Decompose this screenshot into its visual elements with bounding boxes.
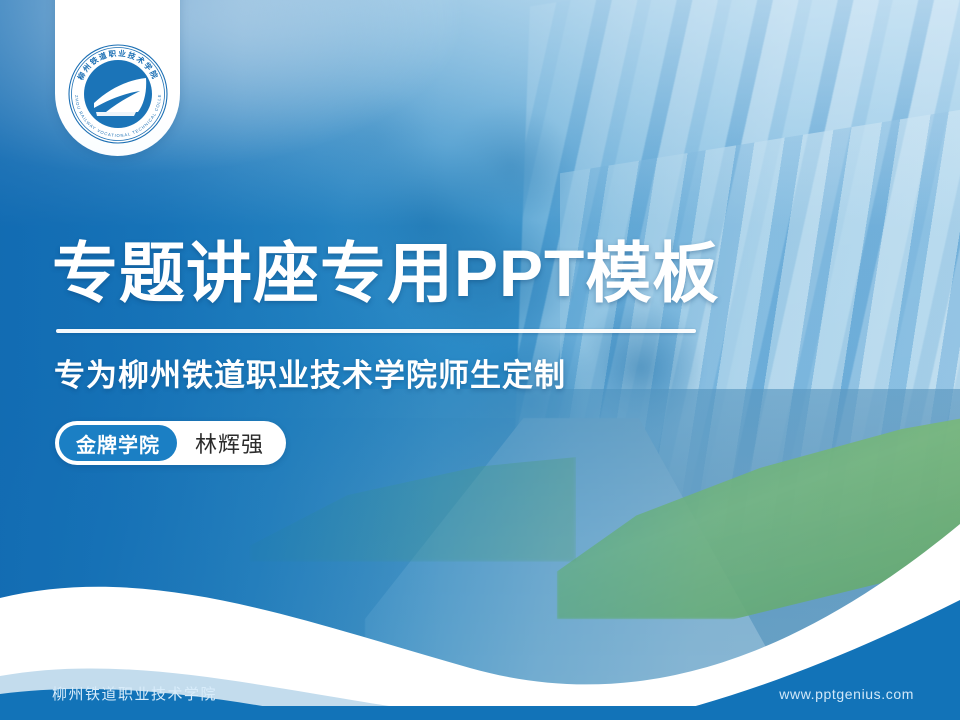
title-divider <box>56 329 696 333</box>
presenter-badge: 金牌学院 林辉强 <box>55 421 286 465</box>
badge-tag-label: 金牌学院 <box>59 425 177 461</box>
slide-title: 专题讲座专用PPT模板 <box>52 238 719 309</box>
liuzhou-railway-college-emblem-icon: 柳州铁道职业技术学院 LIUZHOU RAILWAY VOCATIONAL TE… <box>66 42 170 146</box>
logo-tab-panel: 柳州铁道职业技术学院 LIUZHOU RAILWAY VOCATIONAL TE… <box>55 0 180 156</box>
footer-website-url[interactable]: www.pptgenius.com <box>779 686 914 702</box>
footer-institution-name: 柳州铁道职业技术学院 <box>52 683 217 704</box>
slide-subtitle: 专为柳州铁道职业技术学院师生定制 <box>54 350 566 395</box>
presenter-name: 林辉强 <box>177 427 264 459</box>
presentation-slide: 柳州铁道职业技术学院 LIUZHOU RAILWAY VOCATIONAL TE… <box>0 0 960 720</box>
